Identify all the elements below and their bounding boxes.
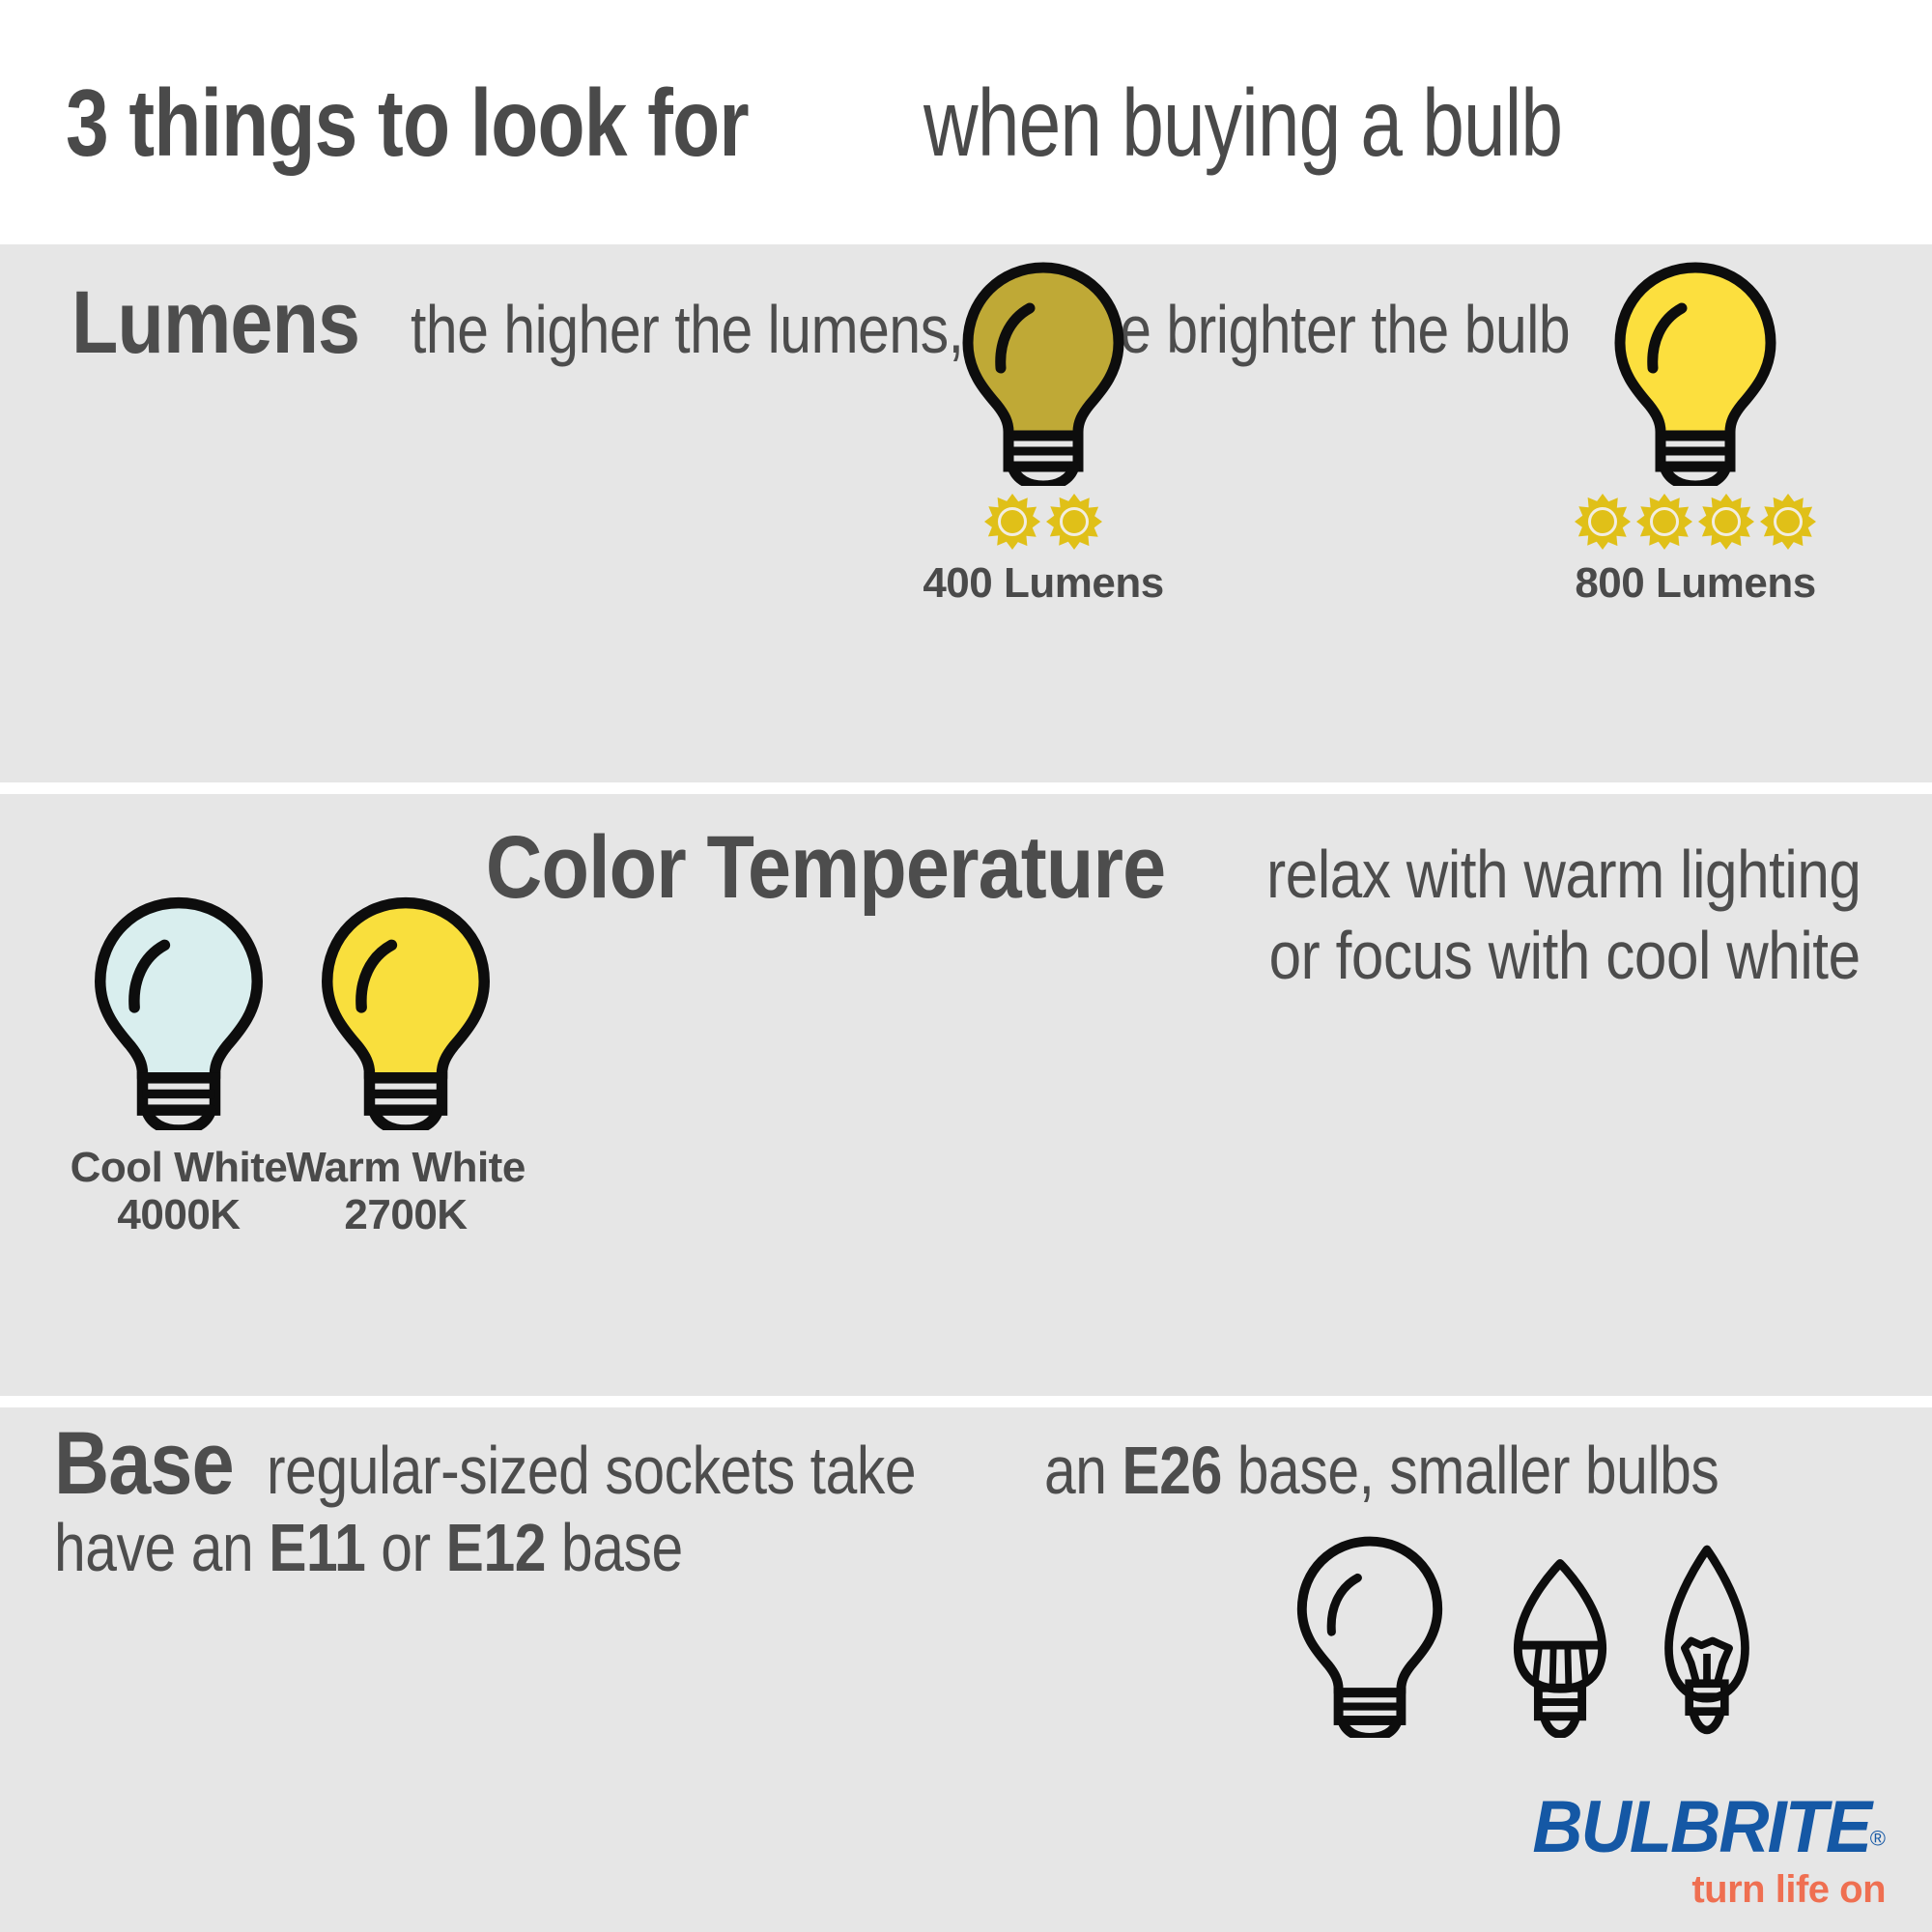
base-bulb-candle	[1503, 1554, 1617, 1743]
base-subline-line1: regular-sized sockets take	[267, 1435, 916, 1508]
section-color-temperature: Cool White 4000K Warm White 2700K Color …	[0, 794, 1932, 1396]
lumens-suns-400	[923, 494, 1164, 550]
bright-bulb-icon	[1599, 254, 1792, 486]
dim-bulb-icon	[947, 254, 1140, 486]
flame-tip-bulb-outline-icon	[1656, 1541, 1758, 1738]
lumens-caption-400: 400 Lumens	[923, 559, 1164, 607]
base-line2-pre: an	[1044, 1433, 1122, 1508]
page-title-light: when buying a bulb	[923, 75, 1562, 170]
candle-led-bulb-outline-icon	[1503, 1554, 1617, 1738]
base-line3-bold-e12: E12	[446, 1510, 546, 1585]
color-temperature-subline-line1: relax with warm lighting	[1266, 838, 1861, 912]
logo-wordmark: BULBRITE®	[1515, 1791, 1886, 1864]
base-line2-post: base, smaller bulbs	[1222, 1433, 1719, 1508]
base-line3-bold-e11: E11	[269, 1510, 365, 1585]
color-caption-warm-white-name: Warm White	[285, 1144, 526, 1191]
logo-tagline: turn life on	[1515, 1870, 1886, 1909]
color-temperature-text-block: Color Temperature relax with warm lighti…	[0, 823, 1861, 992]
header: 3 things to look for when buying a bulb	[0, 0, 1932, 244]
lumens-suns-800	[1575, 494, 1816, 550]
bulbrite-logo: BULBRITE® turn life on	[1515, 1791, 1886, 1909]
sun-icon	[1636, 494, 1692, 550]
sun-icon	[984, 494, 1040, 550]
sun-icon	[1698, 494, 1754, 550]
base-subline-line2: an E26 base, smaller bulbs	[1044, 1435, 1719, 1508]
base-subline-line3: have an E11 or E12 base	[54, 1512, 683, 1585]
lumens-bulb-group-400: 400 Lumens	[923, 254, 1164, 607]
base-line3-post: base	[546, 1510, 683, 1585]
color-caption-warm-white-kelvin: 2700K	[285, 1191, 526, 1238]
sun-icon	[1760, 494, 1816, 550]
base-line2-bold-e26: E26	[1122, 1433, 1221, 1508]
base-text-block: Base regular-sized sockets take an E26 b…	[54, 1419, 1932, 1584]
color-caption-cool-white-kelvin: 4000K	[58, 1191, 299, 1238]
base-bulb-flame	[1656, 1541, 1758, 1743]
lumens-caption-800: 800 Lumens	[1575, 559, 1816, 607]
a-shape-bulb-outline-icon	[1283, 1529, 1457, 1738]
logo-registered-mark: ®	[1870, 1827, 1886, 1851]
lumens-text-block: Lumens the higher the lumens, the bright…	[71, 278, 1664, 379]
base-line3-mid: or	[365, 1510, 445, 1585]
base-line3-pre: have an	[54, 1510, 269, 1585]
page-title-strong: 3 things to look for	[66, 75, 749, 170]
infographic-page: 3 things to look for when buying a bulb …	[0, 0, 1932, 1932]
color-temperature-headline: Color Temperature	[486, 823, 1165, 914]
sun-icon	[1046, 494, 1102, 550]
lumens-headline: Lumens	[71, 278, 359, 369]
section-lumens: Lumens the higher the lumens, the bright…	[0, 244, 1932, 782]
base-headline: Base	[54, 1419, 234, 1510]
logo-word-bulbrite: BULBRITE	[1532, 1791, 1870, 1864]
color-caption-cool-white-name: Cool White	[58, 1144, 299, 1191]
base-bulb-a-shape	[1283, 1529, 1457, 1743]
lumens-subline-line1: the higher the lumens,	[411, 294, 964, 367]
color-temperature-subline-line2: or focus with cool white	[1269, 920, 1861, 993]
lumens-bulb-group-800: 800 Lumens	[1575, 254, 1816, 607]
sun-icon	[1575, 494, 1631, 550]
section-base: Base regular-sized sockets take an E26 b…	[0, 1407, 1932, 1932]
page-title: 3 things to look for when buying a bulb	[66, 75, 1722, 170]
